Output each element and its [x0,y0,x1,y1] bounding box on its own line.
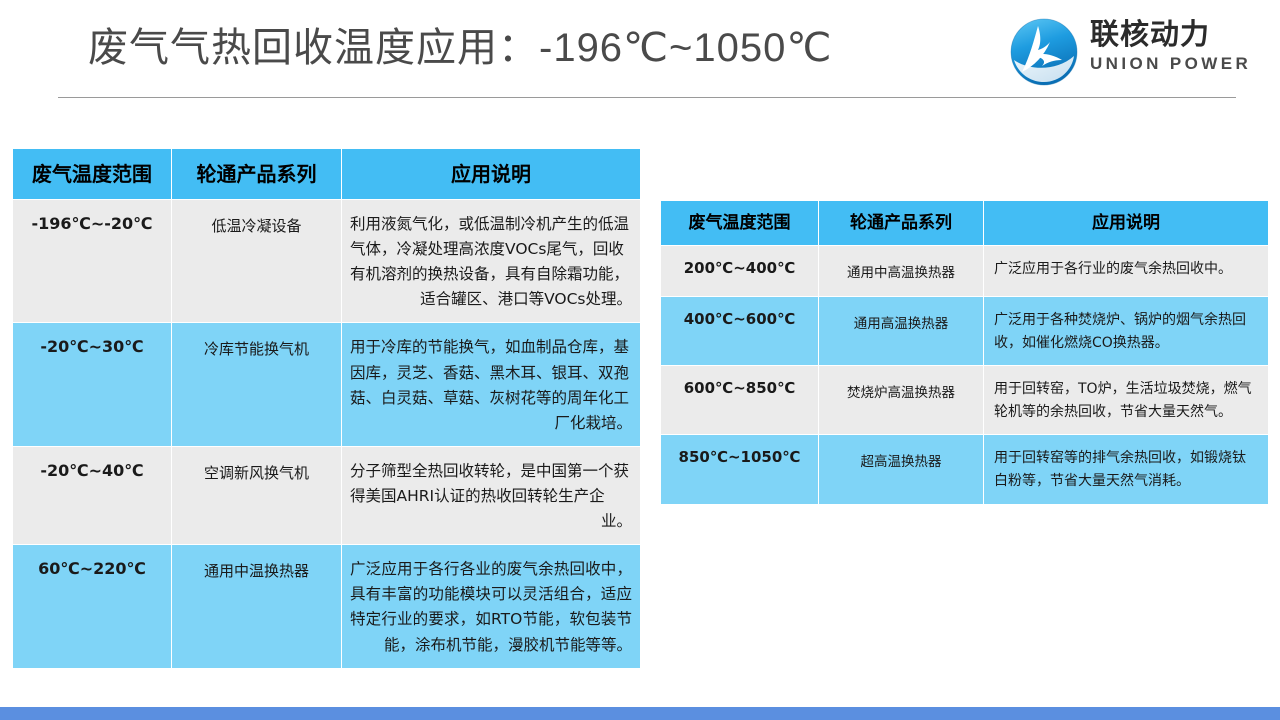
cell-temperature-range: 400℃~600℃ [661,297,819,366]
cell-product-series: 空调新风换气机 [172,446,342,544]
cell-temperature-range: -20℃~30℃ [13,323,172,446]
column-header-application-notes: 应用说明 [984,201,1269,246]
cell-temperature-range: 850℃~1050℃ [661,435,819,504]
cell-temperature-range: 200℃~400℃ [661,246,819,297]
cell-product-series: 冷库节能换气机 [172,323,342,446]
cell-product-series: 通用中高温换热器 [819,246,984,297]
column-header-application-notes: 应用说明 [342,149,641,200]
table-header-row: 废气温度范围 轮通产品系列 应用说明 [13,149,641,200]
cell-application-notes: 用于回转窑，TO炉，生活垃圾焚烧，燃气轮机等的余热回收，节省大量天然气。 [984,366,1269,435]
cell-temperature-range: -196℃~-20℃ [13,200,172,323]
cell-product-series: 低温冷凝设备 [172,200,342,323]
logo-wordmark: 联核动力 UNION POWER [1090,18,1270,74]
cell-temperature-range: -20℃~40℃ [13,446,172,544]
logo-english-name: UNION POWER [1090,54,1270,74]
logo-chinese-name: 联核动力 [1090,18,1270,51]
cell-application-notes: 广泛应用于各行业的废气余热回收中。 [984,246,1269,297]
column-header-temperature-range: 废气温度范围 [13,149,172,200]
cell-application-notes: 用于回转窑等的排气余热回收，如锻烧钛白粉等，节省大量天然气消耗。 [984,435,1269,504]
column-header-product-series: 轮通产品系列 [819,201,984,246]
cell-product-series: 通用中温换热器 [172,545,342,668]
table-row: -20℃~30℃ 冷库节能换气机 用于冷库的节能换气，如血制品仓库，基因库，灵芝… [13,323,641,446]
table-row: 850℃~1050℃ 超高温换热器 用于回转窑等的排气余热回收，如锻烧钛白粉等，… [661,435,1269,504]
title-divider [58,97,1236,98]
waste-gas-temperature-table-left: 废气温度范围 轮通产品系列 应用说明 -196℃~-20℃ 低温冷凝设备 利用液… [12,148,641,669]
column-header-temperature-range: 废气温度范围 [661,201,819,246]
cell-application-notes: 广泛应用于各行各业的废气余热回收中，具有丰富的功能模块可以灵活组合，适应特定行业… [342,545,641,668]
cell-product-series: 超高温换热器 [819,435,984,504]
table-row: 400℃~600℃ 通用高温换热器 广泛用于各种焚烧炉、锅炉的烟气余热回收，如催… [661,297,1269,366]
cell-product-series: 焚烧炉高温换热器 [819,366,984,435]
table-row: 60℃~220℃ 通用中温换热器 广泛应用于各行各业的废气余热回收中，具有丰富的… [13,545,641,668]
page-title: 废气气热回收温度应用：-196℃~1050℃ [88,24,832,72]
cell-temperature-range: 600℃~850℃ [661,366,819,435]
table-row: 600℃~850℃ 焚烧炉高温换热器 用于回转窑，TO炉，生活垃圾焚烧，燃气轮机… [661,366,1269,435]
cell-application-notes: 用于冷库的节能换气，如血制品仓库，基因库，灵芝、香菇、黑木耳、银耳、双孢菇、白灵… [342,323,641,446]
waste-gas-temperature-table-right: 废气温度范围 轮通产品系列 应用说明 200℃~400℃ 通用中高温换热器 广泛… [660,200,1269,505]
table-row: -196℃~-20℃ 低温冷凝设备 利用液氮气化，或低温制冷机产生的低温气体，冷… [13,200,641,323]
cell-temperature-range: 60℃~220℃ [13,545,172,668]
cell-product-series: 通用高温换热器 [819,297,984,366]
cell-application-notes: 分子筛型全热回收转轮，是中国第一个获得美国AHRI认证的热收回转轮生产企业。 [342,446,641,544]
bottom-accent-bar [0,707,1280,720]
table-row: 200℃~400℃ 通用中高温换热器 广泛应用于各行业的废气余热回收中。 [661,246,1269,297]
cell-application-notes: 广泛用于各种焚烧炉、锅炉的烟气余热回收，如催化燃烧CO换热器。 [984,297,1269,366]
cell-application-notes: 利用液氮气化，或低温制冷机产生的低温气体，冷凝处理高浓度VOCs尾气，回收有机溶… [342,200,641,323]
page-header: 废气气热回收温度应用：-196℃~1050℃ [0,0,1280,100]
union-power-globe-icon [1008,16,1080,88]
company-logo: 联核动力 UNION POWER [1008,14,1272,90]
column-header-product-series: 轮通产品系列 [172,149,342,200]
table-header-row: 废气温度范围 轮通产品系列 应用说明 [661,201,1269,246]
table-row: -20℃~40℃ 空调新风换气机 分子筛型全热回收转轮，是中国第一个获得美国AH… [13,446,641,544]
